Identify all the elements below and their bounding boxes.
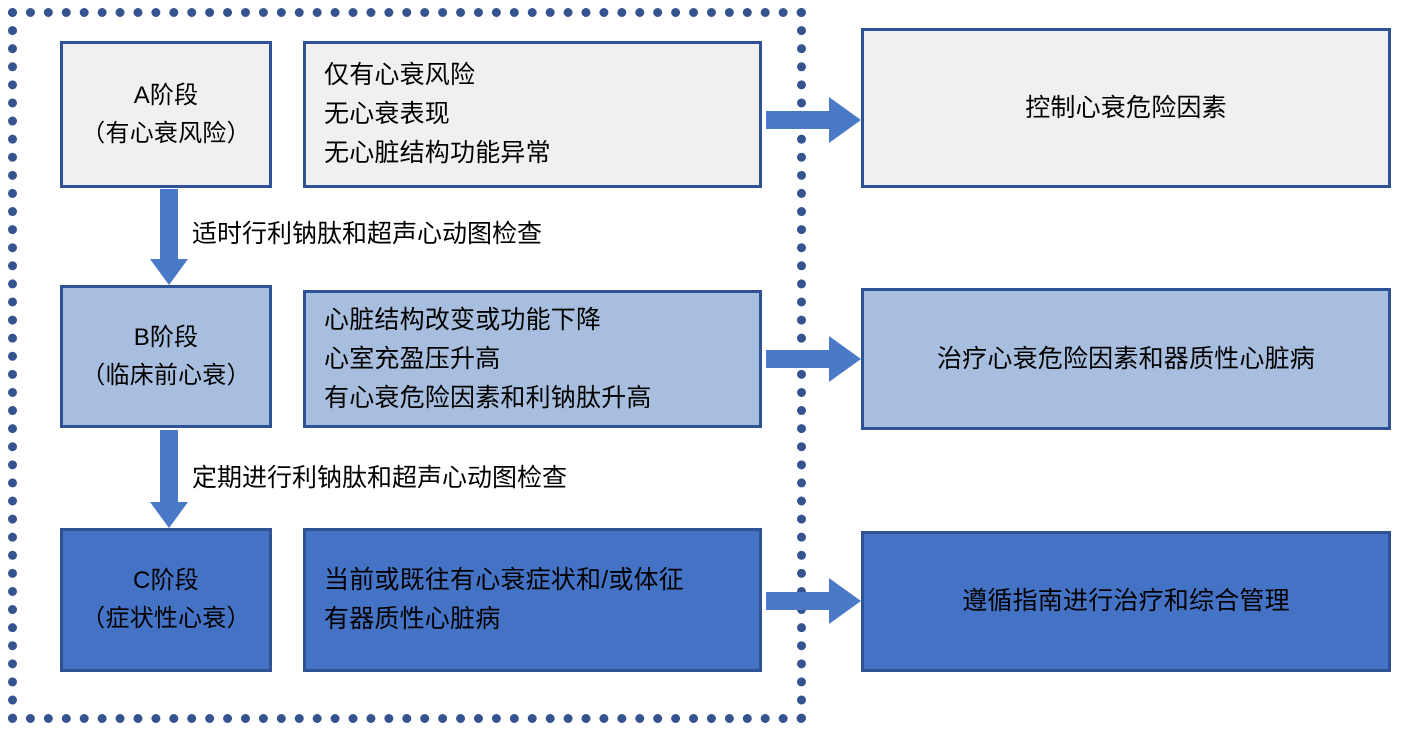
transition-label-b-to-c: 定期进行利钠肽和超声心动图检查 — [192, 463, 567, 493]
transition-label-a-to-b: 适时行利钠肽和超声心动图检查 — [192, 219, 542, 249]
arrow-down-icon-b-to-c — [149, 430, 189, 529]
arrow-right-icon-stage-a — [766, 95, 862, 145]
stage-b-label-text: B阶段 （临床前心衰） — [81, 319, 250, 395]
arrow-right-icon-stage-b — [766, 334, 862, 384]
stage-c-label-box[interactable]: C阶段 （症状性心衰） — [60, 528, 272, 672]
stage-b-action-text: 治疗心衰危险因素和器质性心脏病 — [937, 340, 1315, 379]
stage-a-label-box[interactable]: A阶段 （有心衰风险） — [60, 41, 272, 188]
arrow-down-icon-a-to-b — [149, 189, 189, 286]
stage-b-criteria-text: 心脏结构改变或功能下降 心室充盈压升高 有心衰危险因素和利钠肽升高 — [324, 301, 652, 418]
stage-c-criteria-box[interactable]: 当前或既往有心衰症状和/或体征 有器质性心脏病 — [303, 528, 762, 672]
stage-c-action-text: 遵循指南进行治疗和综合管理 — [962, 582, 1290, 621]
stage-a-action-text: 控制心衰危险因素 — [1025, 89, 1227, 128]
stage-b-criteria-box[interactable]: 心脏结构改变或功能下降 心室充盈压升高 有心衰危险因素和利钠肽升高 — [303, 290, 762, 428]
stage-b-label-box[interactable]: B阶段 （临床前心衰） — [60, 285, 272, 428]
diagram-canvas: A阶段 （有心衰风险） 仅有心衰风险 无心衰表现 无心脏结构功能异常 控制心衰危… — [0, 0, 1406, 735]
arrow-right-icon-stage-c — [766, 576, 862, 626]
stage-c-criteria-text: 当前或既往有心衰症状和/或体征 有器质性心脏病 — [324, 561, 684, 639]
stage-b-action-box[interactable]: 治疗心衰危险因素和器质性心脏病 — [861, 288, 1391, 430]
stage-c-action-box[interactable]: 遵循指南进行治疗和综合管理 — [861, 531, 1391, 672]
stage-a-action-box[interactable]: 控制心衰危险因素 — [861, 28, 1391, 188]
stage-a-criteria-box[interactable]: 仅有心衰风险 无心衰表现 无心脏结构功能异常 — [303, 41, 762, 188]
stage-c-label-text: C阶段 （症状性心衰） — [81, 562, 250, 638]
stage-a-label-text: A阶段 （有心衰风险） — [81, 77, 250, 153]
stage-a-criteria-text: 仅有心衰风险 无心衰表现 无心脏结构功能异常 — [324, 56, 551, 173]
